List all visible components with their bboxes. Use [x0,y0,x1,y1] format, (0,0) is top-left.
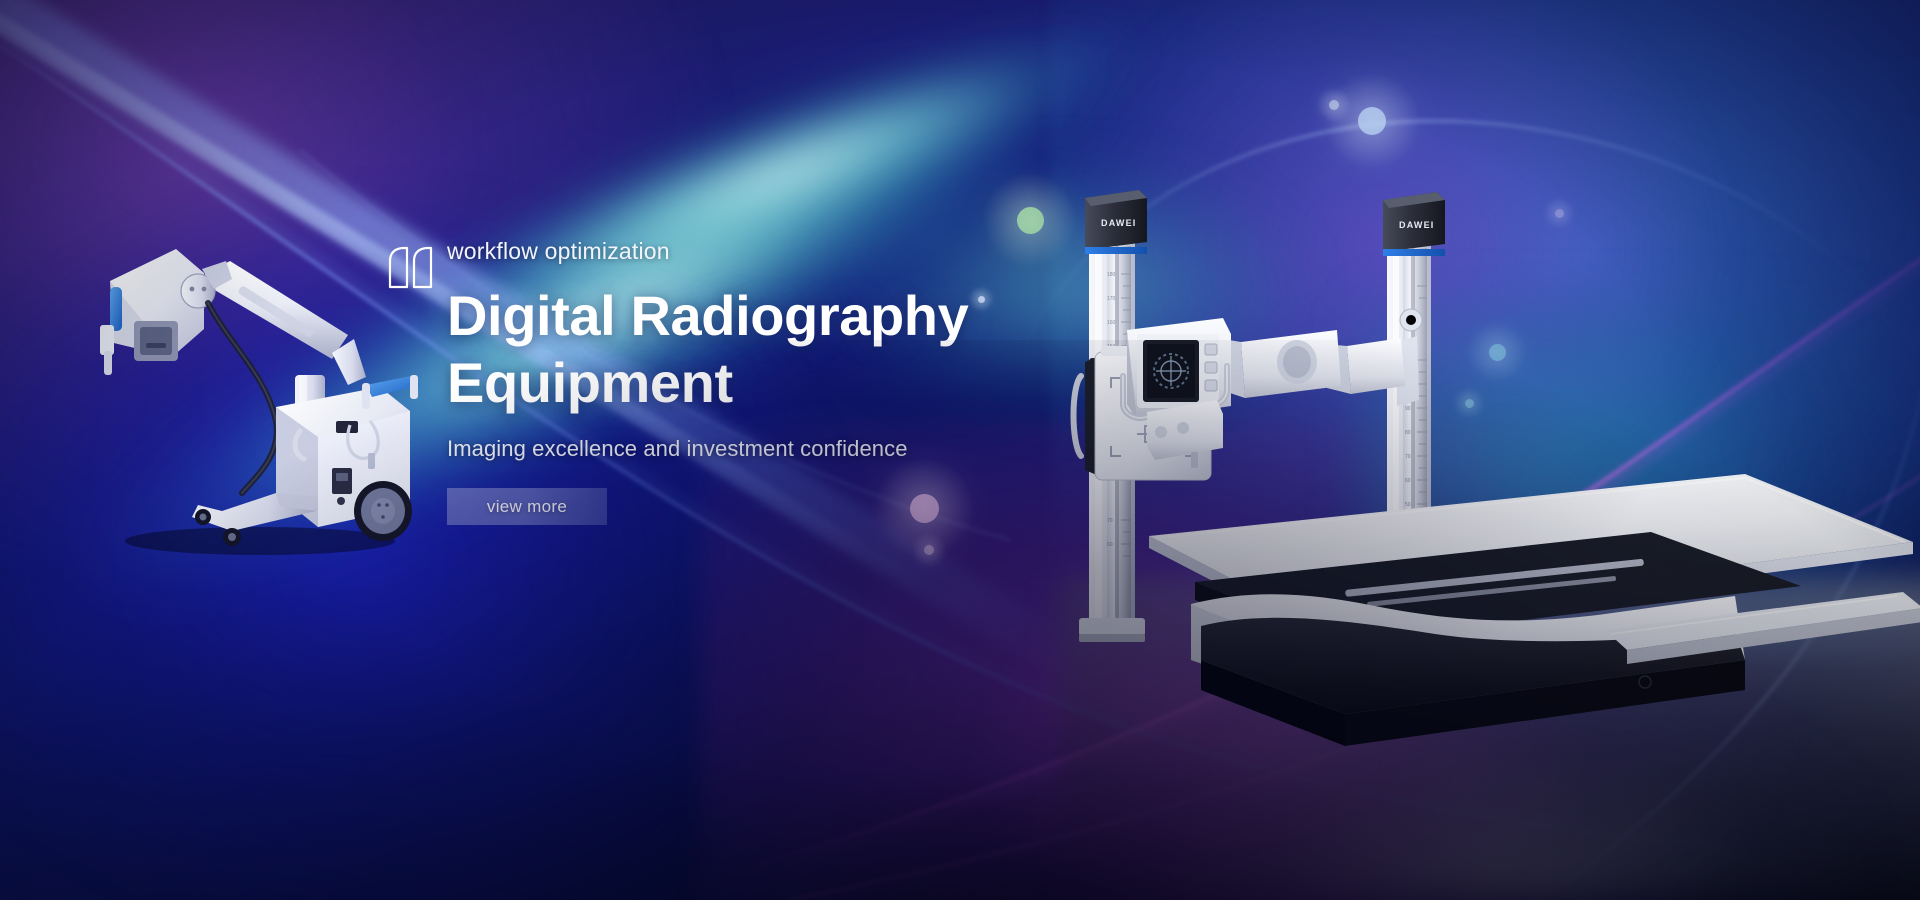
hero-banner: 180170 160150 140 7060 DAWEI [0,0,1920,900]
edge-vignette [0,0,1920,900]
